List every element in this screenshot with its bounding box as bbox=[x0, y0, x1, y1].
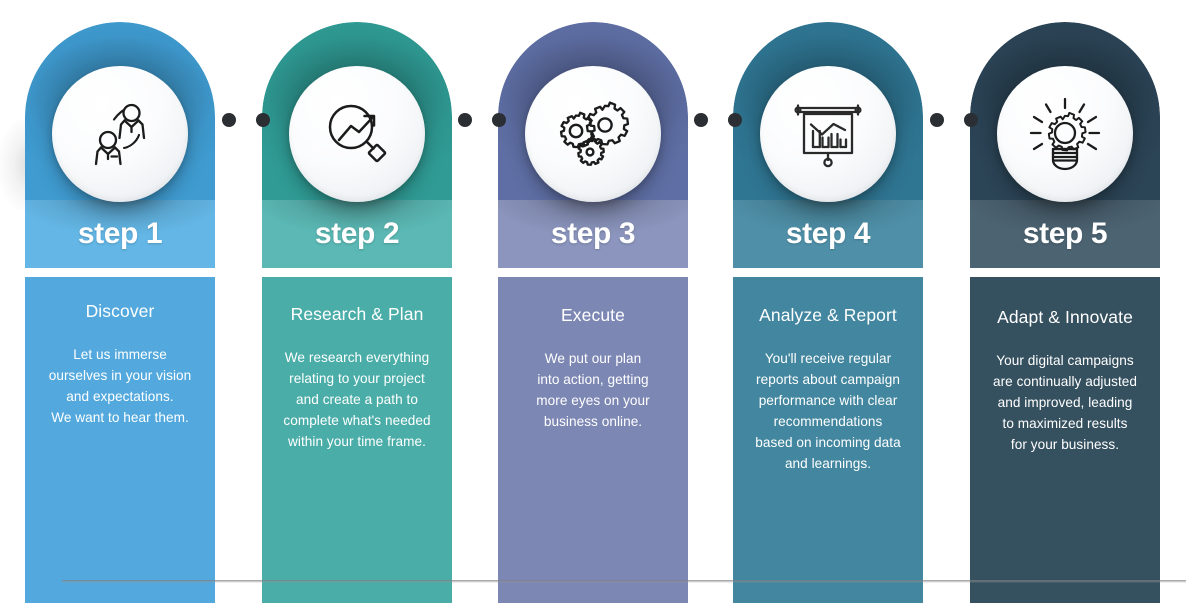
step-body-panel-3: Execute We put our plan into action, get… bbox=[498, 277, 688, 603]
connector-dots-3 bbox=[694, 112, 742, 128]
step-label-band-3: step 3 bbox=[498, 200, 688, 268]
step-icon-disc-4[interactable] bbox=[760, 66, 896, 202]
step-body-panel-4: Analyze & Report You'll receive regular … bbox=[733, 277, 923, 603]
step-column-2[interactable]: step 2 Research & Plan We research every… bbox=[262, 22, 452, 268]
three-gears-icon bbox=[525, 66, 661, 202]
step-body-panel-2: Research & Plan We research everything r… bbox=[262, 277, 452, 603]
step-description-5: Your digital campaigns are continually a… bbox=[978, 350, 1152, 455]
step-number-label-5: step 5 bbox=[1023, 219, 1107, 249]
step-title-3: Execute bbox=[506, 305, 680, 326]
ground-baseline bbox=[62, 580, 1186, 583]
step-icon-disc-2[interactable] bbox=[289, 66, 425, 202]
step-column-5[interactable]: step 5 Adapt & Innovate Your digital cam… bbox=[970, 22, 1160, 268]
step-title-4: Analyze & Report bbox=[741, 305, 915, 326]
step-title-2: Research & Plan bbox=[270, 304, 444, 325]
connector-dot bbox=[728, 113, 742, 127]
step-body-panel-5: Adapt & Innovate Your digital campaigns … bbox=[970, 277, 1160, 603]
step-label-band-4: step 4 bbox=[733, 200, 923, 268]
step-icon-disc-1[interactable] bbox=[52, 66, 188, 202]
step-body-panel-1: Discover Let us immerse ourselves in you… bbox=[25, 277, 215, 603]
step-description-2: We research everything relating to your … bbox=[270, 347, 444, 452]
connector-dot bbox=[930, 113, 944, 127]
step-description-3: We put our plan into action, getting mor… bbox=[506, 348, 680, 432]
step-number-label-4: step 4 bbox=[786, 219, 870, 249]
step-title-1: Discover bbox=[33, 301, 207, 322]
step-description-1: Let us immerse ourselves in your vision … bbox=[33, 344, 207, 428]
connector-dot bbox=[256, 113, 270, 127]
magnifier-growth-chart-icon bbox=[289, 66, 425, 202]
two-people-collaboration-icon bbox=[52, 66, 188, 202]
step-icon-disc-5[interactable] bbox=[997, 66, 1133, 202]
presentation-bar-chart-icon bbox=[760, 66, 896, 202]
connector-dot bbox=[458, 113, 472, 127]
step-label-band-2: step 2 bbox=[262, 200, 452, 268]
step-label-band-5: step 5 bbox=[970, 200, 1160, 268]
connector-dot bbox=[694, 113, 708, 127]
connector-dots-1 bbox=[222, 112, 270, 128]
step-number-label-1: step 1 bbox=[78, 219, 162, 249]
step-icon-disc-3[interactable] bbox=[525, 66, 661, 202]
step-label-band-1: step 1 bbox=[25, 200, 215, 268]
connector-dot bbox=[222, 113, 236, 127]
step-number-label-3: step 3 bbox=[551, 219, 635, 249]
step-column-1[interactable]: step 1 Discover Let us immerse ourselves… bbox=[25, 22, 215, 268]
connector-dots-2 bbox=[458, 112, 506, 128]
lightbulb-gear-idea-icon bbox=[997, 66, 1133, 202]
process-steps-infographic: step 1 Discover Let us immerse ourselves… bbox=[0, 0, 1190, 608]
step-number-label-2: step 2 bbox=[315, 219, 399, 249]
connector-dot bbox=[492, 113, 506, 127]
step-title-5: Adapt & Innovate bbox=[978, 307, 1152, 328]
step-column-3[interactable]: step 3 Execute We put our plan into acti… bbox=[498, 22, 688, 268]
step-description-4: You'll receive regular reports about cam… bbox=[741, 348, 915, 474]
connector-dots-4 bbox=[930, 112, 978, 128]
step-column-4[interactable]: step 4 Analyze & Report You'll receive r… bbox=[733, 22, 923, 268]
connector-dot bbox=[964, 113, 978, 127]
